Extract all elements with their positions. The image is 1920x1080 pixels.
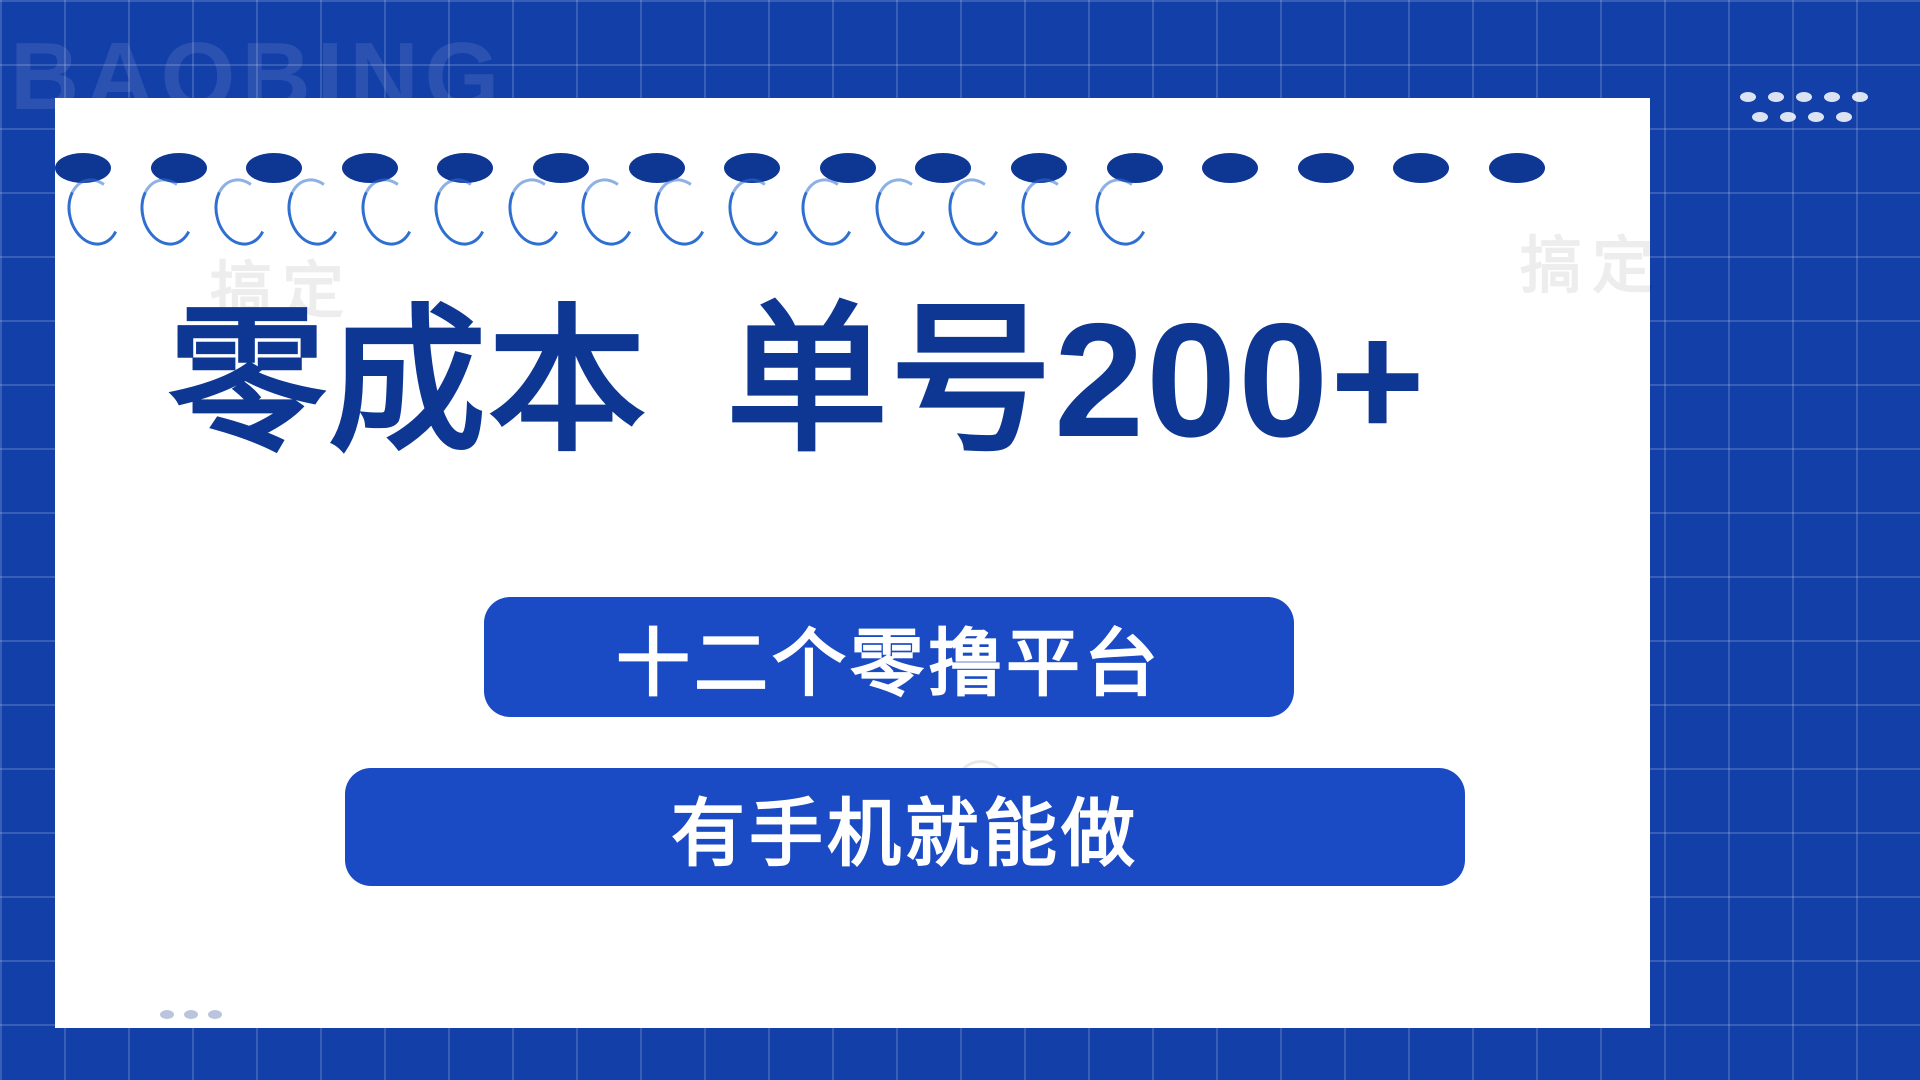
spiral-ring (868, 173, 935, 252)
spiral-ring (575, 173, 642, 252)
top-right-dot-row-2 (1752, 112, 1852, 122)
spiral-ring (721, 173, 788, 252)
decor-dot (1796, 92, 1812, 102)
punch-hole (1489, 153, 1545, 183)
decor-dot (160, 1010, 174, 1019)
top-right-dot-row-1 (1740, 92, 1868, 102)
decor-dot (1752, 112, 1768, 122)
spiral-ring (354, 173, 421, 252)
watermark-right: 搞定 (1520, 215, 1664, 305)
spiral-ring (134, 173, 201, 252)
decor-dot (1836, 112, 1852, 122)
poster-canvas: BAOBING (0, 0, 1920, 1080)
spiral-ring (648, 173, 715, 252)
decor-dot (1852, 92, 1868, 102)
spiral-ring (501, 173, 568, 252)
punch-hole (1298, 153, 1354, 183)
decor-dot (1824, 92, 1840, 102)
punch-hole (1393, 153, 1449, 183)
decor-dot (1768, 92, 1784, 102)
decor-dot (1780, 112, 1796, 122)
headline-part-a: 零成本 (168, 303, 648, 461)
pill-button-platforms[interactable]: 十二个零撸平台 (484, 597, 1294, 717)
spiral-ring (942, 173, 1009, 252)
spiral-ring (1088, 173, 1155, 252)
decor-dot (208, 1010, 222, 1019)
bottom-left-dot-row (160, 1010, 222, 1019)
headline-part-b: 单号200+ (726, 300, 1427, 462)
decor-dot (184, 1010, 198, 1019)
pill-button-phone-only[interactable]: 有手机就能做 (345, 768, 1465, 886)
decor-dot (1808, 112, 1824, 122)
spiral-ring (795, 173, 862, 252)
decor-dot (1740, 92, 1756, 102)
spiral-ring (1015, 173, 1082, 252)
headline: 零成本 单号200+ (168, 300, 1768, 462)
spiral-ring (428, 173, 495, 252)
spiral-binding-rings (68, 178, 1148, 248)
punch-hole (1202, 153, 1258, 183)
spiral-ring (61, 173, 128, 252)
